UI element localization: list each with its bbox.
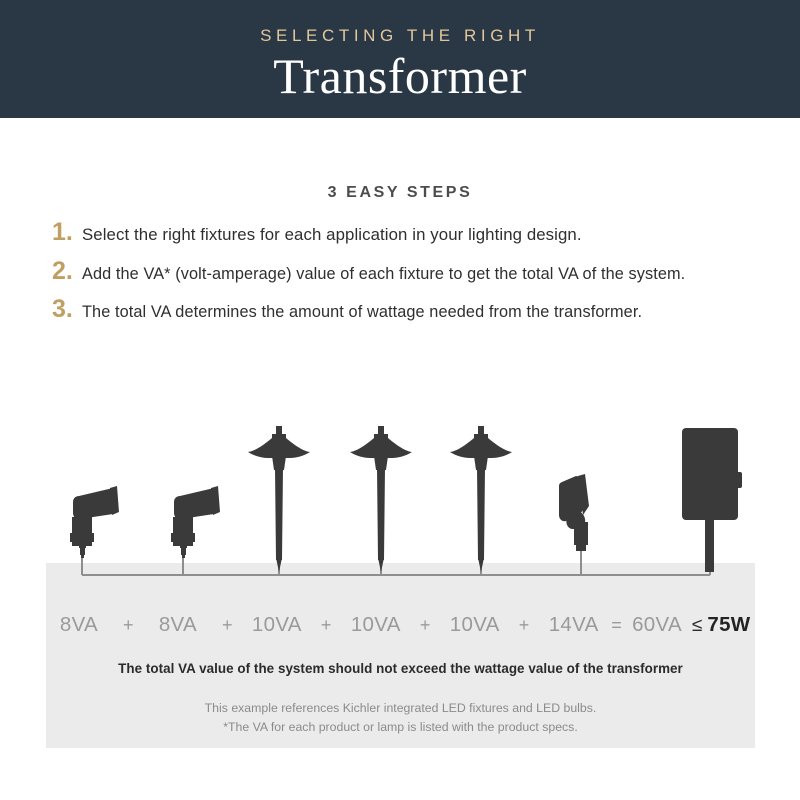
va-value: 8VA bbox=[145, 613, 211, 637]
page-title: Transformer bbox=[273, 48, 527, 104]
va-operator: + bbox=[508, 615, 541, 636]
page-header: SELECTING THE RIGHT Transformer bbox=[0, 0, 800, 118]
va-total: 60VA bbox=[627, 613, 687, 637]
flood-light-2-icon bbox=[171, 486, 220, 558]
steps-heading: 3 EASY STEPS bbox=[0, 184, 800, 202]
step-number: 3. bbox=[52, 297, 82, 322]
va-operator: + bbox=[112, 615, 145, 636]
va-operator: + bbox=[409, 615, 442, 636]
step-text: Select the right fixtures for each appli… bbox=[82, 225, 582, 246]
list-item: 2. Add the VA* (volt-amperage) value of … bbox=[0, 259, 800, 284]
steps-list: 1. Select the right fixtures for each ap… bbox=[0, 220, 800, 336]
va-value: 10VA bbox=[442, 613, 508, 637]
va-operator: + bbox=[211, 615, 244, 636]
transformer-icon bbox=[682, 428, 742, 572]
footnote-line: This example references Kichler integrat… bbox=[46, 699, 755, 718]
step-text: The total VA determines the amount of wa… bbox=[82, 302, 642, 322]
header-eyebrow: SELECTING THE RIGHT bbox=[260, 26, 540, 46]
footnotes: This example references Kichler integrat… bbox=[46, 699, 755, 737]
va-value: 8VA bbox=[46, 613, 112, 637]
va-operator: + bbox=[310, 615, 343, 636]
va-value: 10VA bbox=[343, 613, 409, 637]
low-voltage-wire bbox=[82, 546, 710, 575]
va-comparator: ≤ bbox=[687, 615, 707, 637]
step-text: Add the VA* (volt-amperage) value of eac… bbox=[82, 264, 685, 284]
footnote-line: *The VA for each product or lamp is list… bbox=[46, 718, 755, 737]
path-light-2-icon bbox=[350, 426, 412, 572]
diagram-caption: The total VA value of the system should … bbox=[46, 661, 755, 676]
accent-light-1-icon bbox=[559, 474, 589, 551]
step-number: 1. bbox=[52, 220, 82, 245]
path-light-3-icon bbox=[450, 426, 512, 572]
va-value: 14VA bbox=[541, 613, 607, 637]
transformer-wattage: 75W bbox=[707, 613, 755, 637]
va-equation-row: 8VA + 8VA + 10VA + 10VA + 10VA + 14VA = … bbox=[46, 613, 755, 637]
path-light-1-icon bbox=[248, 426, 310, 572]
list-item: 1. Select the right fixtures for each ap… bbox=[0, 220, 800, 246]
list-item: 3. The total VA determines the amount of… bbox=[0, 297, 800, 322]
va-equals-sign: = bbox=[607, 615, 627, 636]
flood-light-1-icon bbox=[70, 486, 119, 558]
step-number: 2. bbox=[52, 259, 82, 284]
va-value: 10VA bbox=[244, 613, 310, 637]
